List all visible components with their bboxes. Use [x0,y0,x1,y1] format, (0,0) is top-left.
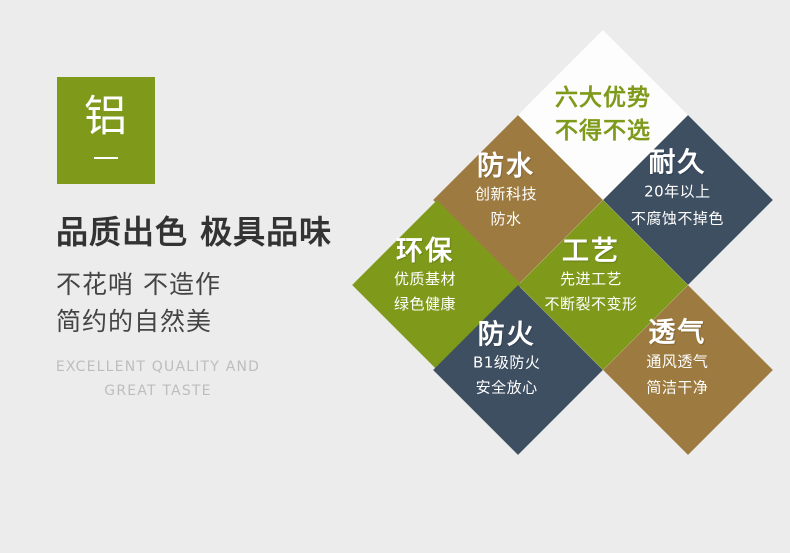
advantages-headline-line-2: 不得不选 [555,115,651,148]
advantages-headline-line-1: 六大优势 [555,82,651,115]
advantage-title-durable: 耐久 [648,148,706,179]
advantage-detail2-craft: 不断裂不变形 [544,292,637,317]
advantage-detail2-breathable: 简洁干净 [646,375,708,401]
advantage-title-fireproof: 防火 [478,319,536,350]
advantage-detail2-eco: 绿色健康 [394,292,456,317]
advantage-detail1-waterproof: 创新科技 [475,182,537,207]
advantage-detail2-fireproof: 安全放心 [476,375,538,400]
advantage-detail1-eco: 优质基材 [394,267,456,292]
advantage-detail1-durable: 20年以上 [644,179,711,206]
advantage-detail2-durable: 不腐蚀不掉色 [631,206,724,233]
advantage-title-craft: 工艺 [562,236,620,267]
advantages-diamond-grid: 六大优势 不得不选 防水 创新科技 防水 耐久 20年以上 不腐蚀不掉色 环保 … [0,0,790,477]
advantage-title-waterproof: 防水 [477,151,535,182]
advantage-detail1-breathable: 通风透气 [646,349,708,375]
advantage-detail1-fireproof: B1级防火 [473,350,540,375]
advantage-title-breathable: 透气 [648,318,706,349]
advantage-title-eco: 环保 [396,236,454,267]
promo-banner: 铝 品质出色 极具品味 不花哨 不造作 简约的自然美 EXCELLENT QUA… [0,0,790,477]
advantage-detail2-waterproof: 防水 [490,207,521,232]
advantage-detail1-craft: 先进工艺 [560,267,622,292]
